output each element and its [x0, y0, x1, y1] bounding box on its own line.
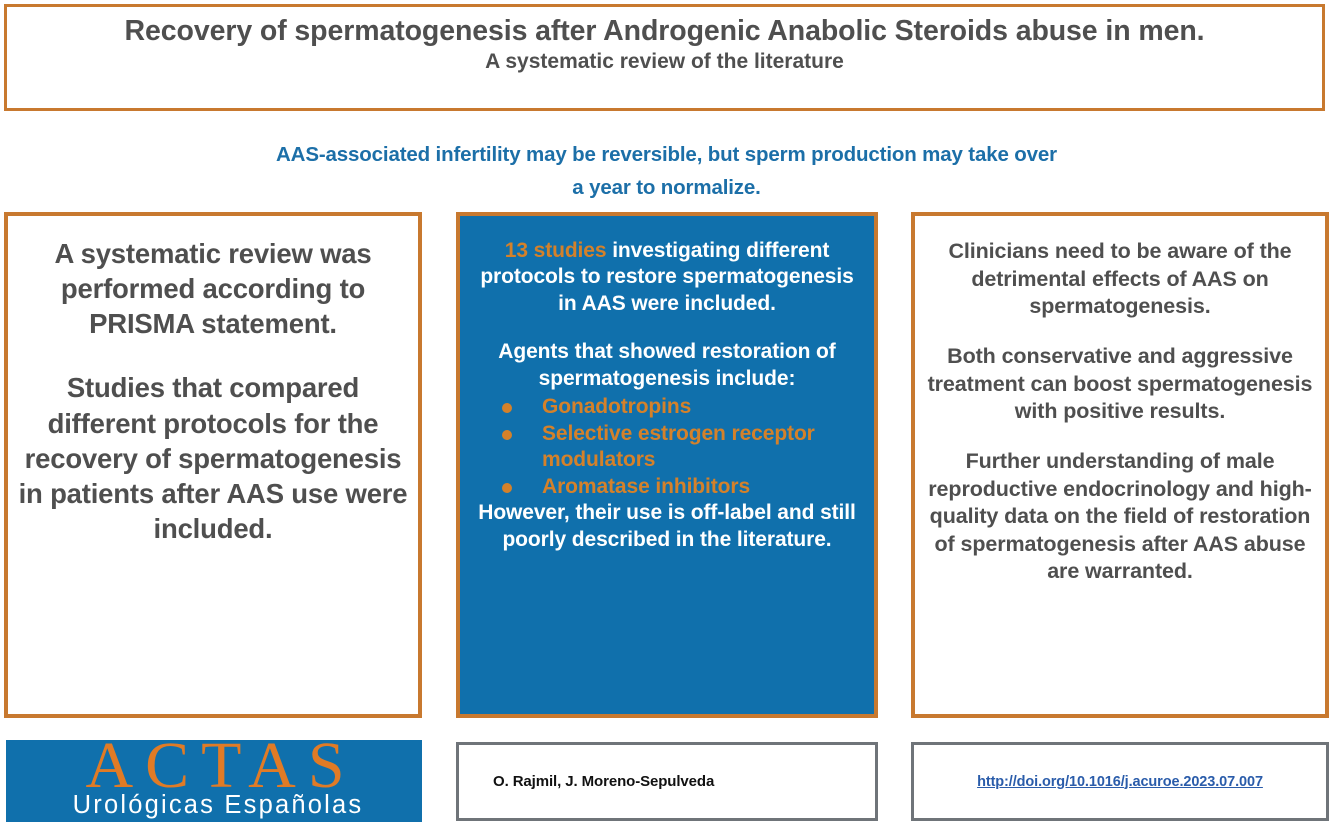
- conclusions-paragraph-1: Clinicians need to be aware of the detri…: [927, 238, 1313, 321]
- panel-methods: A systematic review was performed accord…: [4, 212, 422, 718]
- list-item: Selective estrogen receptor modulators: [490, 421, 862, 474]
- authors-box: O. Rajmil, J. Moreno-Sepulveda: [456, 742, 878, 821]
- list-item: Gonadotropins: [490, 394, 862, 420]
- methods-paragraph-1: A systematic review was performed accord…: [18, 236, 408, 342]
- graphical-abstract-page: Recovery of spermatogenesis after Androg…: [0, 0, 1333, 822]
- doi-link[interactable]: http://doi.org/10.1016/j.acuroe.2023.07.…: [977, 774, 1263, 790]
- panel-methods-body: A systematic review was performed accord…: [18, 236, 408, 546]
- page-title: Recovery of spermatogenesis after Androg…: [125, 16, 1205, 48]
- methods-paragraph-2: Studies that compared different protocol…: [18, 370, 408, 546]
- panel-conclusions: Clinicians need to be aware of the detri…: [911, 212, 1329, 718]
- results-intro: 13 studies investigating different proto…: [472, 238, 862, 317]
- studies-count-highlight: 13 studies: [505, 239, 607, 262]
- journal-logo-subtitle: Urológicas Españolas: [65, 793, 364, 819]
- journal-logo: ACTAS Urológicas Españolas: [6, 740, 422, 822]
- key-statement-line-1: AAS-associated infertility may be revers…: [0, 138, 1333, 171]
- panel-results: 13 studies investigating different proto…: [456, 212, 878, 718]
- journal-logo-name: ACTAS: [71, 740, 356, 795]
- agents-list: Gonadotropins Selective estrogen recepto…: [472, 394, 862, 500]
- conclusions-paragraph-2: Both conservative and aggressive treatme…: [927, 343, 1313, 426]
- list-item: Aromatase inhibitors: [490, 474, 862, 500]
- agents-heading: Agents that showed restoration of sperma…: [472, 339, 862, 392]
- conclusions-paragraph-3: Further understanding of male reproducti…: [927, 448, 1313, 586]
- title-header-box: Recovery of spermatogenesis after Androg…: [4, 4, 1325, 111]
- page-subtitle: A systematic review of the literature: [485, 50, 844, 74]
- panel-results-body: 13 studies investigating different proto…: [472, 238, 862, 553]
- doi-box: http://doi.org/10.1016/j.acuroe.2023.07.…: [911, 742, 1329, 821]
- key-statement-line-2: a year to normalize.: [0, 171, 1333, 204]
- authors-list: O. Rajmil, J. Moreno-Sepulveda: [493, 773, 714, 790]
- key-statement-banner: AAS-associated infertility may be revers…: [0, 138, 1333, 204]
- panel-conclusions-body: Clinicians need to be aware of the detri…: [927, 238, 1313, 586]
- results-closing: However, their use is off-label and stil…: [472, 500, 862, 553]
